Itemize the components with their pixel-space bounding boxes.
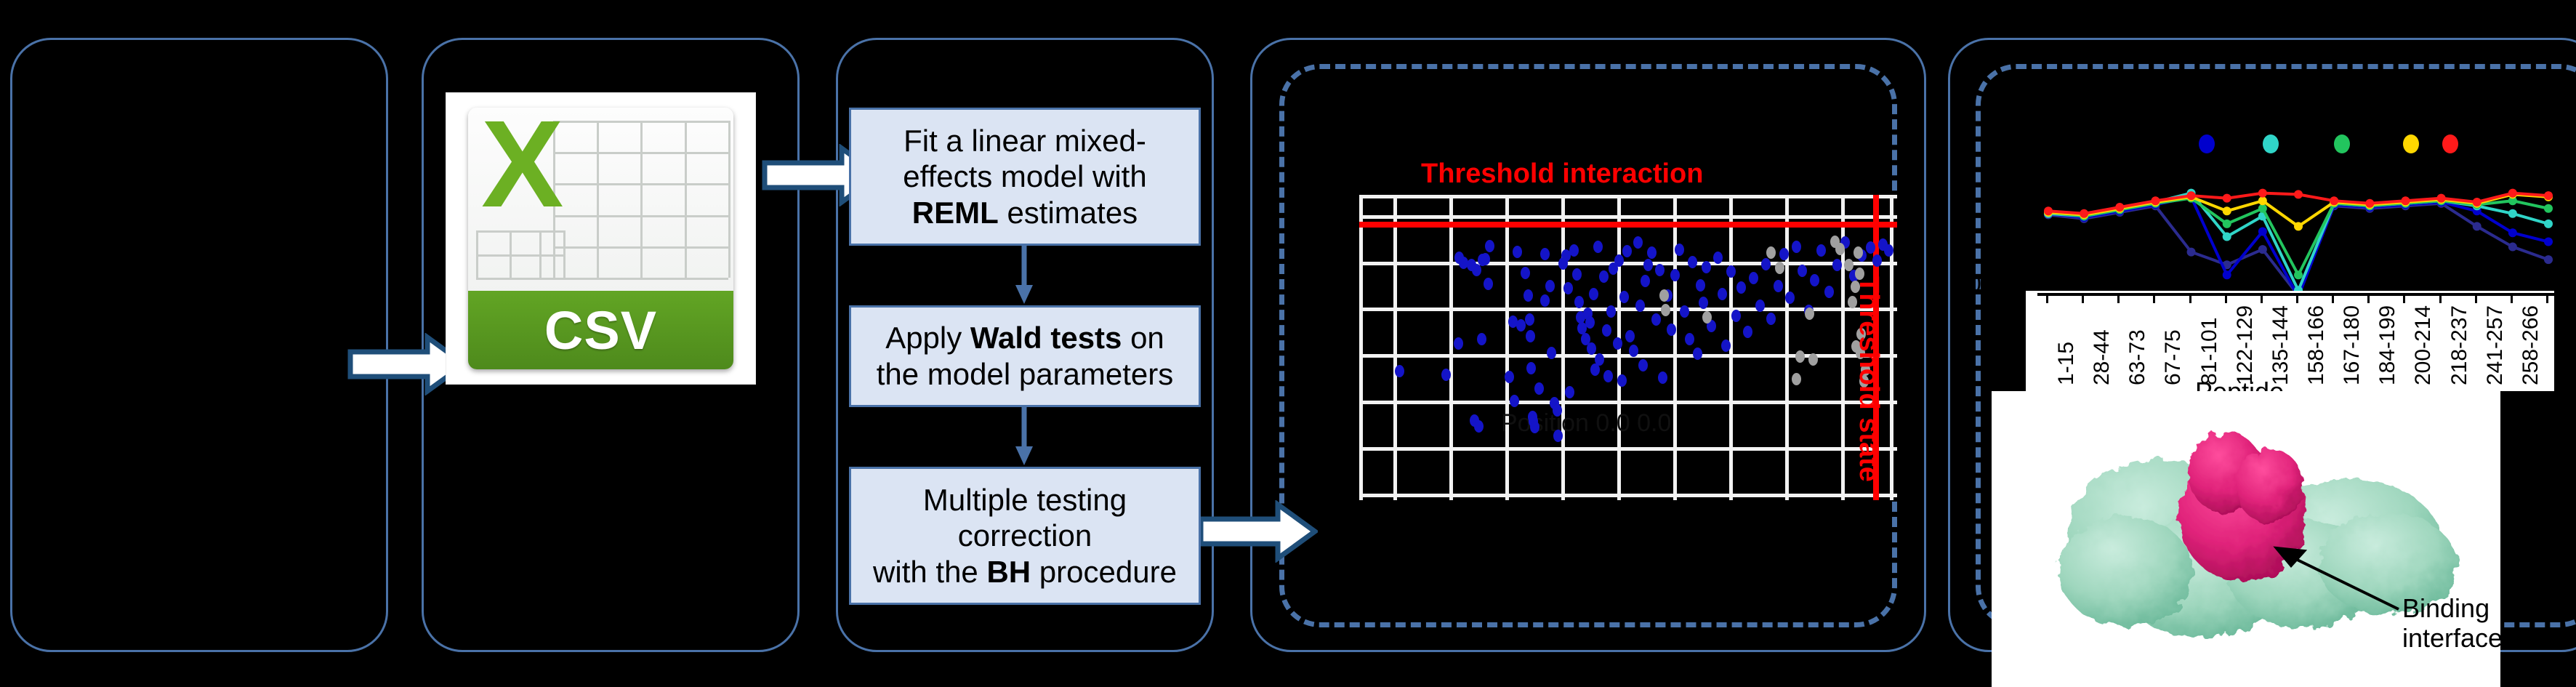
step-fit-model-text: Fit a linear mixed-effects model withREM… bbox=[903, 123, 1146, 231]
peptide-figure bbox=[2028, 134, 2559, 294]
excel-x-letter: X bbox=[481, 108, 569, 222]
step-fit-model[interactable]: Fit a linear mixed-effects model withREM… bbox=[849, 108, 1201, 246]
csv-label-band: CSV bbox=[468, 291, 734, 369]
threshold-state-label: Threshold state bbox=[1853, 276, 1884, 482]
binding-annot-line1: Binding bbox=[2402, 593, 2500, 623]
connector-wald-to-bh bbox=[1013, 407, 1035, 467]
step-wald-tests[interactable]: Apply Wald tests onthe model parameters bbox=[849, 305, 1201, 407]
scatter-faint-axis-text: Position 0.0 0.0 bbox=[1501, 409, 1671, 438]
scatter-title: Threshold interaction bbox=[1421, 158, 1703, 190]
step-multiple-testing[interactable]: Multiple testingcorrectionwith the BH pr… bbox=[849, 467, 1201, 605]
threshold-interaction-line bbox=[1359, 222, 1897, 228]
csv-label: CSV bbox=[544, 300, 657, 361]
protein-structure-image: Binding interface bbox=[1992, 275, 2500, 687]
step-wald-tests-text: Apply Wald tests onthe model parameters bbox=[877, 320, 1174, 392]
binding-annot-line2: interface bbox=[2402, 623, 2500, 653]
legend-dot-series-3 bbox=[2334, 134, 2350, 153]
csv-card: X CSV bbox=[468, 108, 734, 369]
csv-file-icon[interactable]: X CSV bbox=[446, 93, 755, 384]
csv-spreadsheet-grid-lower bbox=[476, 230, 564, 278]
arrow-analysis-to-results bbox=[1198, 500, 1318, 563]
csv-spreadsheet-grid bbox=[553, 121, 728, 278]
legend-dot-series-1 bbox=[2199, 134, 2215, 153]
legend-dot-series-2 bbox=[2263, 134, 2279, 153]
step-multiple-testing-text: Multiple testingcorrectionwith the BH pr… bbox=[873, 482, 1177, 590]
scatter-figure: Threshold interaction Position 0.0 0.0 bbox=[1345, 145, 1897, 553]
peptide-x-label: 277-284 bbox=[2554, 305, 2576, 385]
input-panel bbox=[10, 38, 388, 652]
legend-dot-series-4 bbox=[2403, 134, 2419, 153]
legend-dot-series-5 bbox=[2442, 134, 2458, 153]
peptide-x-label: 258-266 bbox=[2519, 305, 2543, 385]
scatter-plot-area: Position 0.0 0.0 bbox=[1359, 195, 1897, 500]
binding-interface-annotation: Binding interface bbox=[2402, 593, 2500, 654]
connector-fit-to-wald bbox=[1013, 246, 1035, 305]
